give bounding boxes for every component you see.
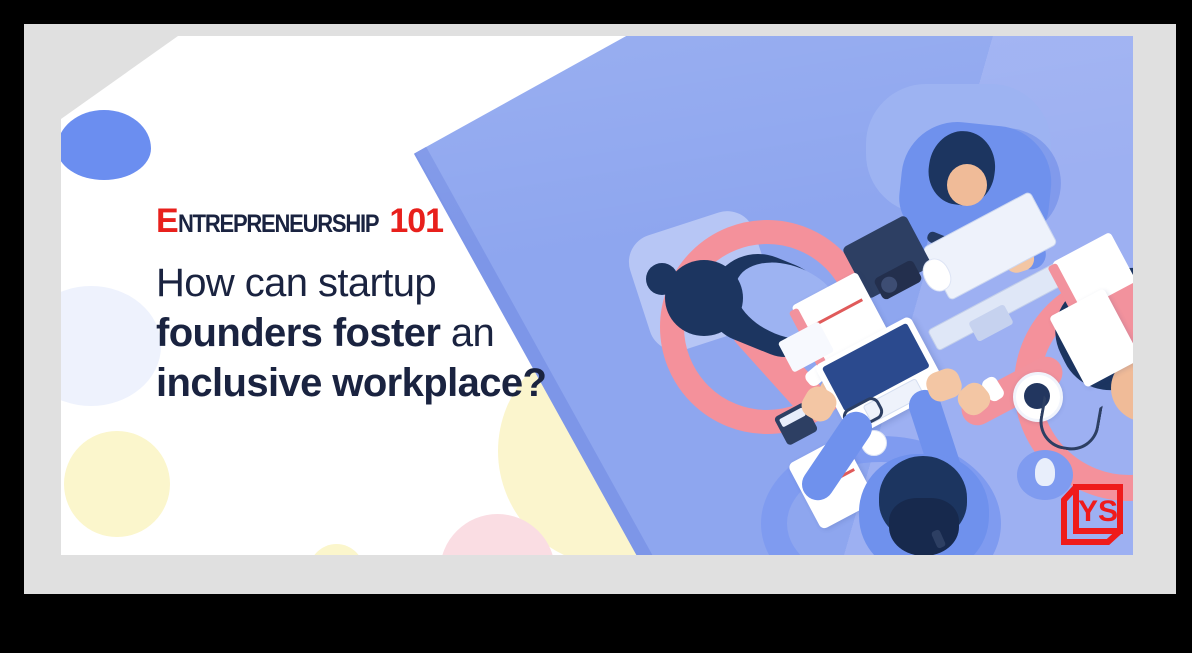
camera-lens-icon [878,274,900,296]
plant-leaves [1035,458,1055,486]
yourstory-logo[interactable]: YS [1055,476,1129,548]
headline-line-2-rest: an [440,311,494,355]
person-left-head [665,260,743,336]
kicker-word: NTREPRENEURSHIP [178,212,378,237]
yourstory-logo-text: YS [1078,495,1118,528]
banner-stage: ENTREPRENEURSHIP101 How can startup foun… [0,0,1192,653]
headline-line-2: founders foster an [156,308,596,358]
headline-line-1: How can startup [156,258,596,308]
person-left-hair-bun [646,263,678,295]
headline-emphasis: founders foster [156,311,440,355]
series-kicker: ENTREPRENEURSHIP101 [156,204,596,238]
kicker-number: 101 [389,202,443,240]
headline-line-3: inclusive workplace? [156,358,596,408]
person-top-face [947,164,987,206]
person-bottom-hair [889,498,959,555]
poster-card: ENTREPRENEURSHIP101 How can startup foun… [61,36,1133,555]
headline-block: ENTREPRENEURSHIP101 How can startup foun… [156,204,596,408]
kicker-initial: E [156,202,178,240]
